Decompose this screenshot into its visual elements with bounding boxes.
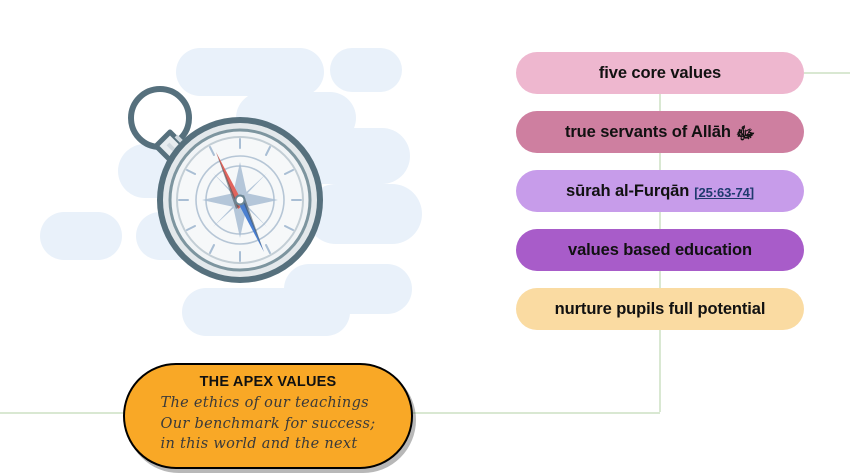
jalla-jalaluhu-glyph: ﷻ (736, 125, 755, 142)
pill-surah-al-furqan[interactable]: sūrah al-Furqān[25:63-74] (516, 170, 804, 212)
pill-label-values-based-education: values based education (568, 241, 752, 260)
values-pill-list: five core valuestrue servants of Allāhﷻs… (516, 52, 804, 347)
pill-text: values based education (568, 241, 752, 260)
pill-label-nurture-pupils-full-potential: nurture pupils full potential (555, 300, 766, 319)
apex-values-line: Our benchmark for success; (161, 414, 376, 435)
compass-illustration (108, 70, 338, 300)
pill-text: sūrah al-Furqān (566, 182, 689, 201)
pill-label-surah-al-furqan: sūrah al-Furqān[25:63-74] (566, 182, 754, 201)
slide-canvas: five core valuestrue servants of Allāhﷻs… (0, 0, 850, 475)
compass-icon (108, 70, 338, 300)
apex-values-card[interactable]: THE APEX VALUES The ethics of our teachi… (123, 363, 413, 469)
pill-text: five core values (599, 64, 721, 83)
background-blob (330, 48, 402, 92)
pill-text: true servants of Allāh (565, 123, 731, 142)
apex-values-lines: The ethics of our teachingsOur benchmark… (161, 393, 376, 455)
pill-nurture-pupils-full-potential[interactable]: nurture pupils full potential (516, 288, 804, 330)
pill-text: nurture pupils full potential (555, 300, 766, 319)
pill-true-servants-of-allah[interactable]: true servants of Allāhﷻ (516, 111, 804, 153)
apex-values-line: The ethics of our teachings (161, 393, 369, 414)
pill-label-five-core-values: five core values (599, 64, 721, 83)
pill-five-core-values[interactable]: five core values (516, 52, 804, 94)
pill-label-true-servants-of-allah: true servants of Allāhﷻ (565, 123, 755, 142)
apex-values-title: THE APEX VALUES (200, 374, 337, 390)
pill-values-based-education[interactable]: values based education (516, 229, 804, 271)
connector-right-branch (804, 72, 850, 74)
quran-reference-link[interactable]: [25:63-74] (694, 185, 754, 200)
apex-values-line: in this world and the next (161, 434, 358, 455)
